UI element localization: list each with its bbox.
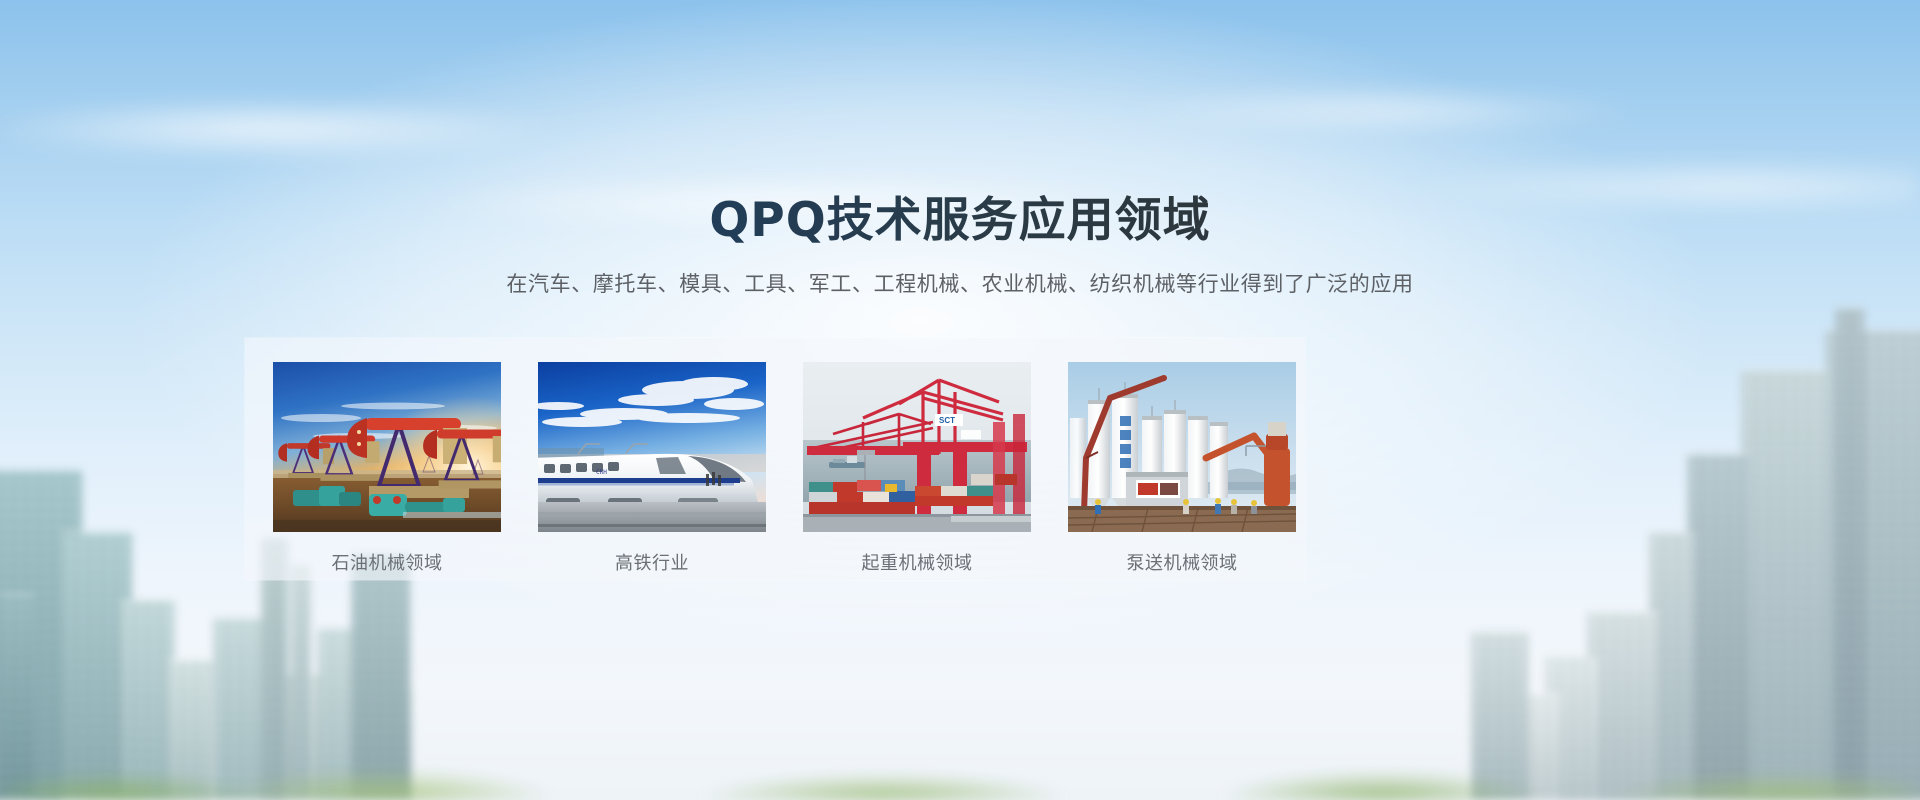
- oil-pumpjack-photo: [273, 362, 501, 532]
- application-card[interactable]: 泵送机械领域: [1068, 362, 1296, 575]
- application-card-list: 石油机械领域: [245, 338, 1305, 580]
- applications-panel: 石油机械领域: [245, 338, 1305, 580]
- application-card-label: 起重机械领域: [803, 549, 1031, 575]
- port-gantry-crane-photo: SCT: [803, 362, 1031, 532]
- application-card-label: 高铁行业: [538, 549, 766, 575]
- page-subtitle: 在汽车、摩托车、模具、工具、军工、工程机械、农业机械、纺织机械等行业得到了广泛的…: [0, 270, 1920, 299]
- high-speed-train-photo: CRH: [538, 362, 766, 532]
- application-card[interactable]: SCT: [803, 362, 1031, 575]
- application-card-label: 石油机械领域: [273, 549, 501, 575]
- page-title: QPQ技术服务应用领域: [0, 193, 1920, 248]
- concrete-pump-truck-photo: [1068, 362, 1296, 532]
- hero-header: QPQ技术服务应用领域 在汽车、摩托车、模具、工具、军工、工程机械、农业机械、纺…: [0, 0, 1920, 300]
- application-card[interactable]: 石油机械领域: [273, 362, 501, 575]
- foliage: [0, 742, 1920, 800]
- application-card-label: 泵送机械领域: [1068, 549, 1296, 575]
- application-card[interactable]: CRH: [538, 362, 766, 575]
- svg-text:SCT: SCT: [939, 416, 955, 425]
- svg-text:CRH: CRH: [596, 469, 607, 476]
